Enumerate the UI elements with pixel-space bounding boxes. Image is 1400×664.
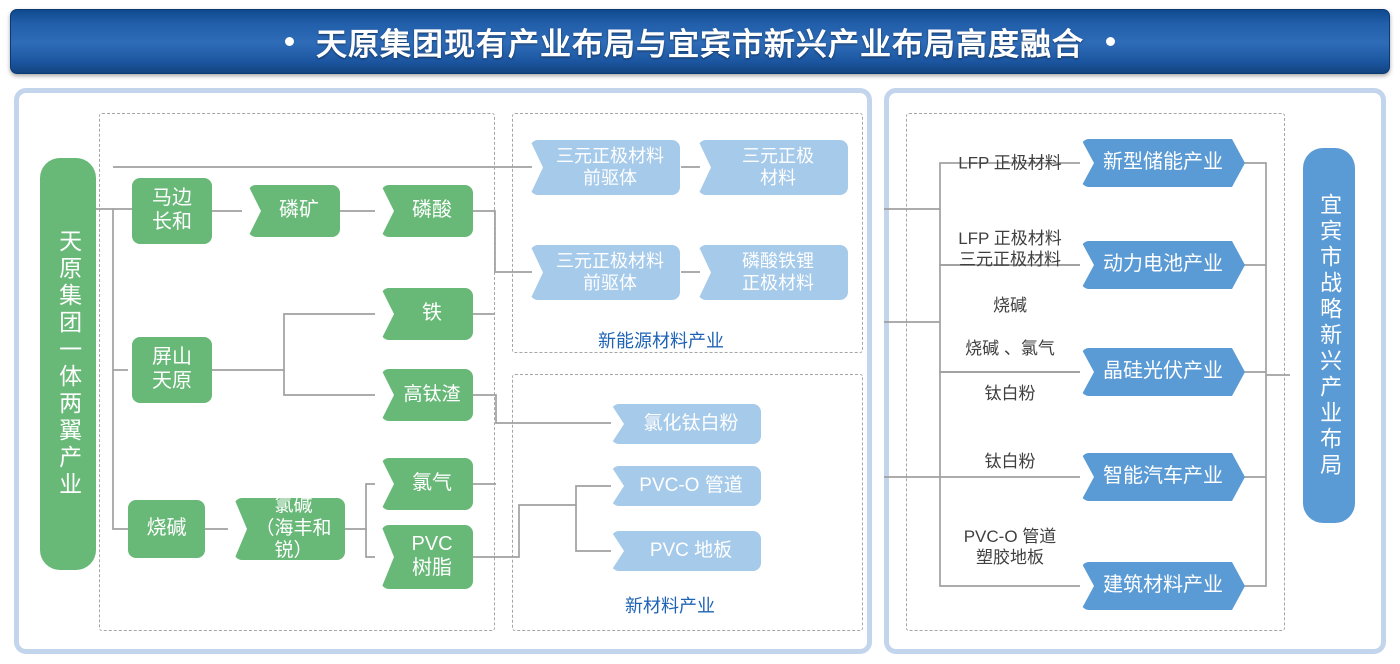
node-chlorinated-titanium-dioxide[interactable]: 氯化钛白粉 [611, 404, 761, 444]
node-caustic-soda[interactable]: 烧碱 [128, 500, 205, 558]
node-high-titanium-slag[interactable]: 高钛渣 [381, 369, 473, 421]
node-label: 磷酸 [402, 199, 452, 223]
node-mabian-changhe[interactable]: 马边长和 [132, 178, 212, 244]
node-label: 马边长和 [152, 187, 192, 234]
node-nmc-precursor-2[interactable]: 三元正极材料前驱体 [530, 245, 680, 300]
flow-label-titanium-dioxide-2: 钛白粉 [940, 451, 1080, 472]
node-nmc-cathode-material[interactable]: 三元正极材料 [698, 140, 848, 195]
vertical-label-tianyuan: 天原集团一体两翼产业 [40, 158, 96, 570]
node-label: 三元正极材料 [732, 146, 814, 188]
bullet-left-icon [285, 37, 294, 46]
node-intelligent-vehicle-industry[interactable]: 智能汽车产业 [1081, 453, 1245, 501]
node-pvco-pipe[interactable]: PVC-O 管道 [611, 466, 761, 506]
caption-new-energy-materials: 新能源材料产业 [598, 327, 724, 353]
node-pvc-resin[interactable]: PVC树脂 [381, 525, 473, 589]
node-label: PVC-O 管道 [629, 475, 742, 497]
node-chlor-alkali[interactable]: 氯碱（海丰和锐） [234, 498, 345, 560]
node-pingshan-tianyuan[interactable]: 屏山天原 [132, 337, 212, 403]
node-label: 氯气 [402, 472, 452, 496]
node-lfp-cathode-material[interactable]: 磷酸铁锂正极材料 [698, 245, 848, 300]
node-label: 磷矿 [269, 199, 319, 223]
node-pvc-floor[interactable]: PVC 地板 [611, 531, 761, 571]
node-label: 磷酸铁锂正极材料 [732, 251, 814, 293]
caption-new-materials: 新材料产业 [625, 592, 715, 618]
node-label: 屏山天原 [152, 346, 192, 393]
flow-label-lfp-nmc: LFP 正极材料 三元正极材料 [940, 228, 1080, 271]
title-banner: 天原集团现有产业布局与宜宾市新兴产业布局高度融合 [10, 9, 1390, 74]
vertical-label-text: 宜宾市战略新兴产业布局 [1317, 193, 1341, 479]
node-label: 建筑材料产业 [1103, 574, 1223, 598]
node-label: 智能汽车产业 [1103, 465, 1223, 489]
node-label: 烧碱 [147, 517, 187, 541]
node-label: 铁 [412, 302, 442, 326]
node-phosphoric-acid[interactable]: 磷酸 [381, 185, 473, 237]
node-label: 氯碱（海丰和锐） [238, 495, 341, 562]
node-building-materials-industry[interactable]: 建筑材料产业 [1081, 562, 1245, 610]
vertical-label-text: 天原集团一体两翼产业 [55, 229, 80, 499]
node-crystalline-silicon-pv-industry[interactable]: 晶硅光伏产业 [1081, 348, 1245, 396]
flow-label-lfp: LFP 正极材料 [940, 152, 1080, 173]
node-label: 三元正极材料前驱体 [546, 251, 664, 293]
node-label: PVC树脂 [401, 533, 452, 580]
node-iron[interactable]: 铁 [381, 288, 473, 340]
node-label: 动力电池产业 [1103, 253, 1223, 277]
node-label: 高钛渣 [393, 384, 460, 406]
page-title: 天原集团现有产业布局与宜宾市新兴产业布局高度融合 [316, 19, 1084, 64]
flow-label-naoh-chlorine: 烧碱 、氯气 [935, 338, 1085, 359]
vertical-label-yibin: 宜宾市战略新兴产业布局 [1303, 148, 1355, 523]
node-label: PVC 地板 [640, 540, 732, 562]
node-label: 氯化钛白粉 [633, 413, 738, 435]
node-nmc-precursor-1[interactable]: 三元正极材料前驱体 [530, 140, 680, 195]
node-label: 三元正极材料前驱体 [546, 146, 664, 188]
node-phosphate-rock[interactable]: 磷矿 [248, 185, 340, 237]
flow-label-naoh: 烧碱 [940, 295, 1080, 316]
diagram-canvas: 天原集团现有产业布局与宜宾市新兴产业布局高度融合 [0, 0, 1400, 664]
flow-label-pvco-plastic-floor: PVC-O 管道 塑胶地板 [935, 526, 1085, 569]
node-label: 新型储能产业 [1103, 151, 1223, 175]
node-new-energy-storage-industry[interactable]: 新型储能产业 [1081, 139, 1245, 187]
bullet-right-icon [1106, 37, 1115, 46]
flow-label-titanium-dioxide-1: 钛白粉 [940, 383, 1080, 404]
node-label: 晶硅光伏产业 [1103, 360, 1223, 384]
node-power-battery-industry[interactable]: 动力电池产业 [1081, 241, 1245, 289]
node-chlorine[interactable]: 氯气 [381, 458, 473, 510]
